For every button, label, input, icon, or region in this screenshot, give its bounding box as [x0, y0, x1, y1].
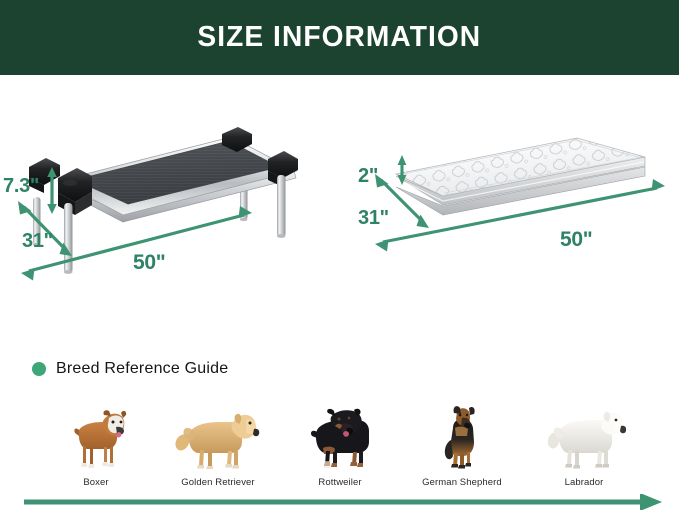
elevated-bed-illustration [0, 75, 345, 290]
header-banner: SIZE INFORMATION [0, 0, 679, 75]
page-title: SIZE INFORMATION [198, 21, 482, 54]
bed-leg-front-right [277, 175, 286, 238]
bed-corner-cap-front-left [58, 168, 92, 215]
mattress-width-label: 50" [560, 228, 592, 252]
bed-leg-front-left [64, 203, 73, 274]
bed-height-label: 7.3" [3, 175, 39, 198]
german-shepherd-dog-image [429, 406, 495, 472]
labrador-dog-image [542, 408, 626, 472]
bed-width-label: 50" [133, 251, 165, 275]
breed-guide-title: Breed Reference Guide [56, 360, 228, 378]
breed-label: Boxer [83, 477, 108, 488]
golden-retriever-dog-image [172, 408, 264, 472]
breed-guide-header: Breed Reference Guide [32, 360, 228, 378]
boxer-dog-image [59, 408, 133, 472]
breed-label: Golden Retriever [181, 477, 254, 488]
elevated-bed-diagram: 7.3" 31" 50" [0, 75, 345, 290]
mattress-thickness-label: 2" [358, 165, 378, 188]
breed-item-rottweiler: Rottweiler [284, 408, 396, 488]
breed-label: Rottweiler [318, 477, 361, 488]
breed-label: Labrador [565, 477, 604, 488]
size-progression-arrow [22, 494, 667, 510]
mattress-illustration [345, 75, 679, 290]
rottweiler-dog-image [301, 408, 379, 472]
breed-item-boxer: Boxer [40, 408, 152, 488]
breed-item-german-shepherd: German Shepherd [406, 406, 518, 488]
breed-list: Boxer [40, 398, 640, 488]
mattress-diagram: 2" 31" 50" [345, 75, 679, 290]
bullet-dot-icon [32, 362, 46, 376]
breed-label: German Shepherd [422, 477, 502, 488]
bed-depth-label: 31" [22, 230, 53, 253]
infographic-page: SIZE INFORMATION [0, 0, 679, 517]
breed-item-labrador: Labrador [528, 408, 640, 488]
breed-item-golden-retriever: Golden Retriever [162, 408, 274, 488]
mattress-depth-label: 31" [358, 207, 389, 230]
